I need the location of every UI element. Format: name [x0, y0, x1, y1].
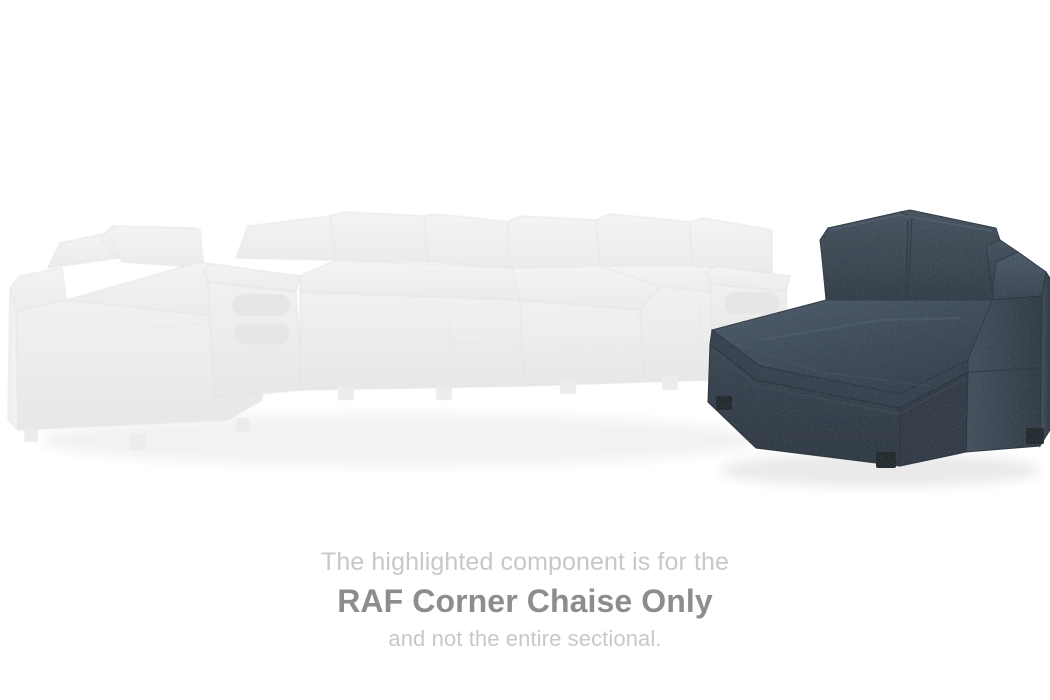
cup-holder	[232, 294, 290, 316]
cup-holder	[724, 292, 780, 314]
sectional-ghost	[8, 212, 790, 466]
sectional-illustration	[0, 0, 1050, 520]
chaise-back-cushion-left	[820, 212, 912, 300]
product-image-canvas: The highlighted component is for the RAF…	[0, 0, 1050, 700]
caption-line-1: The highlighted component is for the	[0, 545, 1050, 579]
caption-line-2-component-name: RAF Corner Chaise Only	[0, 579, 1050, 623]
caption-line-3: and not the entire sectional.	[0, 623, 1050, 655]
cup-holder	[234, 324, 290, 344]
chaise-leg-front-right	[876, 452, 896, 468]
ghost-console-left	[204, 264, 300, 398]
chaise-leg-back-right	[1026, 428, 1044, 444]
component-caption: The highlighted component is for the RAF…	[0, 545, 1050, 655]
chaise-leg-front-left	[716, 396, 732, 410]
